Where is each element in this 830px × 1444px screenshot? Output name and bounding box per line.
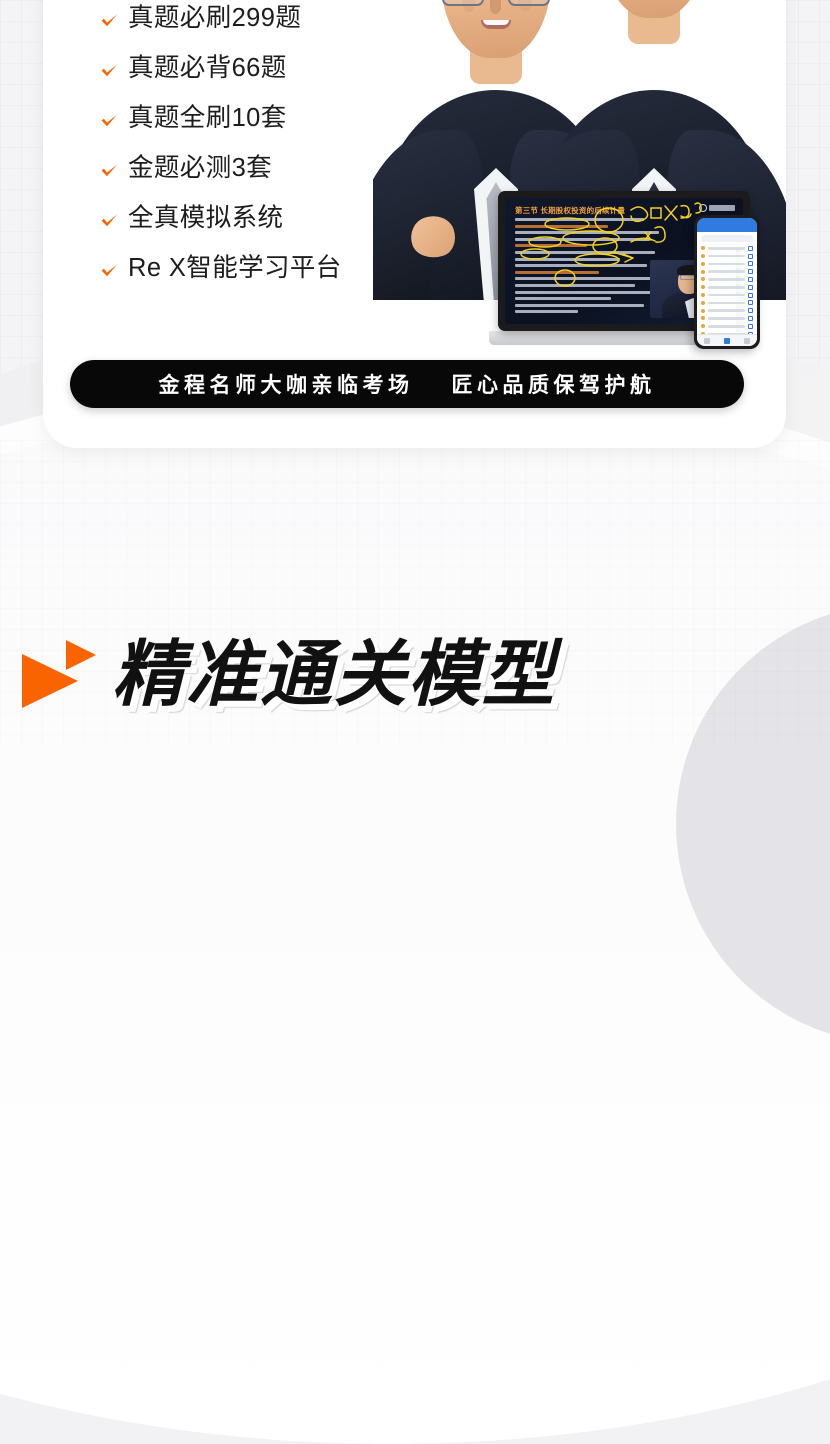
list-item[interactable] [697, 259, 757, 267]
brand-mark-icon [699, 204, 707, 212]
row-label [708, 278, 745, 281]
list-item: 真题全刷10套 [98, 105, 398, 133]
slogan-left: 金程名师大咖亲临考场 [159, 369, 414, 399]
row-label [708, 294, 745, 297]
tab-item[interactable] [697, 335, 717, 346]
tab-icon [744, 338, 750, 344]
checkbox-icon[interactable] [748, 308, 753, 313]
list-item-label: 全真模拟系统 [128, 206, 283, 232]
list-item: Re X智能学习平台 [98, 255, 398, 283]
hero-card: 真题必刷299题 真题必背66题 真题全刷10套 [43, 0, 786, 448]
text-line [515, 310, 578, 313]
row-label [708, 286, 745, 289]
list-item[interactable] [697, 266, 757, 274]
check-icon [98, 258, 122, 282]
phone-device [694, 215, 760, 349]
text-line [515, 291, 652, 294]
tab-icon [724, 338, 730, 344]
text-line [515, 225, 608, 228]
bullet-icon [701, 316, 705, 320]
text-line [515, 277, 656, 280]
section-headline: 精准通关模型 [0, 614, 640, 734]
page-title: 精准通关模型 [112, 638, 556, 710]
list-item: 金题必测3套 [98, 155, 398, 183]
checkbox-icon[interactable] [748, 293, 753, 298]
checkbox-icon[interactable] [748, 277, 753, 282]
row-label [708, 325, 745, 328]
list-item[interactable] [697, 290, 757, 298]
row-label [708, 309, 745, 312]
list-item[interactable] [697, 298, 757, 306]
list-item-label: 真题必背66题 [128, 56, 287, 82]
phone-app-header [697, 218, 757, 232]
row-label [708, 317, 745, 320]
brand-wordmark [709, 205, 735, 211]
face [440, 0, 552, 58]
checkbox-icon[interactable] [748, 254, 753, 259]
text-line [515, 251, 655, 254]
slogan-banner: 金程名师大咖亲临考场 匠心品质保驾护航 [70, 360, 744, 408]
list-item[interactable] [697, 243, 757, 251]
check-icon [98, 58, 122, 82]
list-item-label: 真题全刷10套 [128, 106, 287, 132]
list-item[interactable] [697, 313, 757, 321]
feature-list: 真题必刷299题 真题必背66题 真题全刷10套 [98, 5, 398, 283]
checkbox-icon[interactable] [748, 285, 753, 290]
check-icon [98, 208, 122, 232]
brand-watermark [699, 204, 735, 212]
list-item[interactable] [697, 305, 757, 313]
list-item: 真题必刷299题 [98, 5, 398, 33]
text-line [515, 258, 620, 261]
row-label [708, 263, 745, 266]
bullet-icon [701, 293, 705, 297]
device-mockup: 第三节 长期股权投资的后续计量 [498, 191, 786, 361]
text-line [515, 297, 611, 300]
bullet-icon [701, 262, 705, 266]
text-line [515, 231, 659, 234]
checkbox-icon[interactable] [748, 261, 753, 266]
list-item-label: 金题必测3套 [128, 156, 272, 182]
check-icon [98, 8, 122, 32]
text-line [515, 238, 650, 241]
checkbox-icon[interactable] [748, 269, 753, 274]
row-label [708, 247, 745, 250]
tab-item[interactable] [717, 335, 737, 346]
checkbox-icon[interactable] [748, 300, 753, 305]
slogan-right: 匠心品质保驾护航 [452, 369, 656, 399]
checkbox-icon[interactable] [748, 316, 753, 321]
row-label [708, 302, 745, 305]
bullet-icon [701, 324, 705, 328]
phone-screen [697, 218, 757, 346]
play-triangle-icon [16, 636, 100, 712]
text-line [515, 218, 644, 221]
check-icon [98, 158, 122, 182]
row-label [708, 270, 745, 273]
text-line [515, 244, 587, 247]
bullet-icon [701, 277, 705, 281]
text-line [515, 304, 644, 307]
list-item-label: Re X智能学习平台 [128, 256, 342, 282]
list-item: 真题必背66题 [98, 55, 398, 83]
text-line [515, 264, 647, 267]
bullet-icon [701, 270, 705, 274]
tab-item[interactable] [737, 335, 757, 346]
bullet-icon [701, 285, 705, 289]
lecture-text-block [515, 218, 665, 317]
text-line [515, 284, 635, 287]
list-item[interactable] [697, 274, 757, 282]
lecture-title: 第三节 长期股权投资的后续计量 [515, 205, 625, 216]
list-item-label: 真题必刷299题 [128, 6, 301, 32]
checkbox-icon[interactable] [748, 246, 753, 251]
tab-icon [704, 338, 710, 344]
phone-search-input[interactable] [701, 235, 753, 242]
list-item[interactable] [697, 321, 757, 329]
check-icon [98, 108, 122, 132]
phone-tab-bar[interactable] [697, 334, 757, 346]
checkbox-icon[interactable] [748, 324, 753, 329]
bullet-icon [701, 309, 705, 313]
bullet-icon [701, 246, 705, 250]
bullet-icon [701, 254, 705, 258]
eyeglasses-icon [442, 0, 550, 8]
teeth [483, 20, 509, 25]
list-item[interactable] [697, 251, 757, 259]
row-label [708, 255, 745, 258]
list-item[interactable] [697, 282, 757, 290]
glasses-lens-left [442, 0, 484, 6]
text-line [515, 271, 599, 274]
face [600, 0, 708, 18]
bullet-icon [701, 301, 705, 305]
list-item: 全真模拟系统 [98, 205, 398, 233]
